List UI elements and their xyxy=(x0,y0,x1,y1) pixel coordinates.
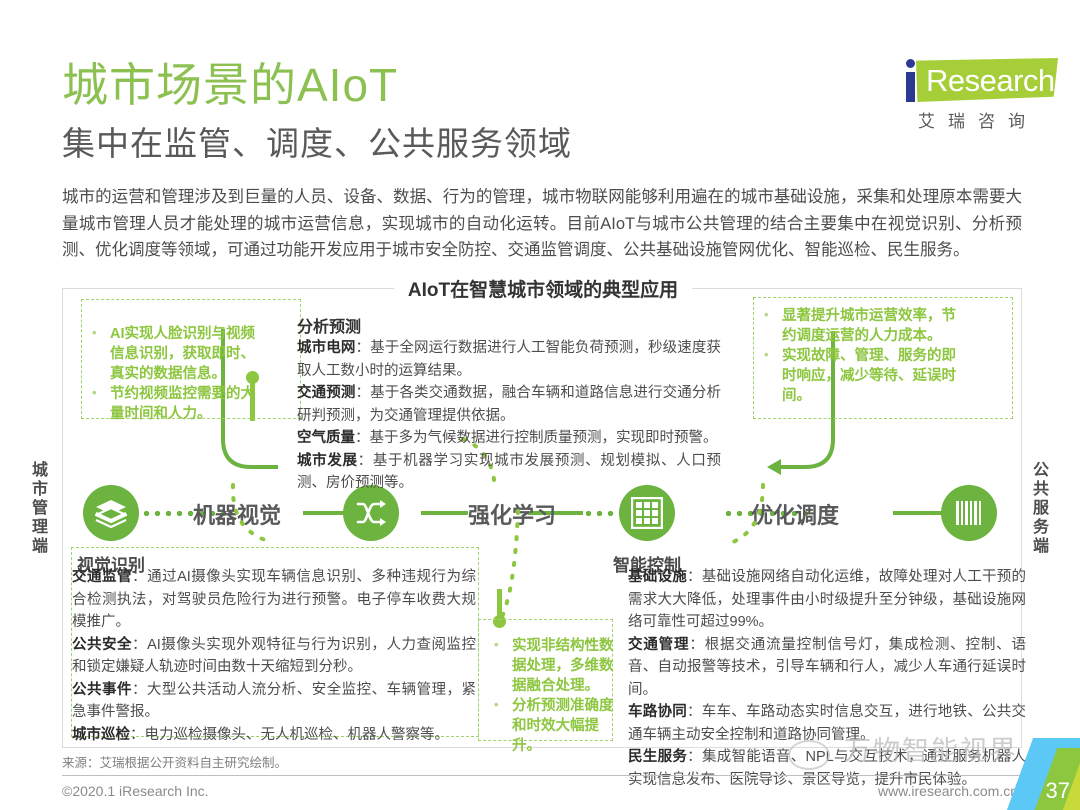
vision-entry-2: 公共安全：AI摄像头实现外观特征与行为识别，人力查阅监控和锁定嫌疑人轨迹时间由数… xyxy=(72,634,476,679)
node-public-service[interactable] xyxy=(941,485,997,541)
analysis-entry-1: 城市电网：基于全网运行数据进行人工智能负荷预测，秒级速度获取人工数小时的运算结果… xyxy=(297,337,721,382)
logo-i-stem xyxy=(906,72,915,102)
callout-right: 显著提升城市运营效率，节约调度运营的人力成本。 实现故障、管理、服务的即时响应，… xyxy=(760,306,960,406)
page-title: 城市场景的AIoT xyxy=(62,57,398,113)
axis-word-machine-vision: 机器视觉 xyxy=(193,498,281,530)
control-term-3: 车路协同 xyxy=(628,704,687,720)
callout-left-item-1: AI实现人脸识别与视频信息识别，获取即时、真实的数据信息。 xyxy=(88,324,268,384)
axis-segment-solid-4 xyxy=(893,511,943,515)
axis-segment-solid-2 xyxy=(421,511,468,515)
connector-arrowhead xyxy=(767,459,781,475)
footer-divider xyxy=(62,775,1020,776)
analysis-text-4: 基于机器学习实现城市发展预测、规划模拟、人口预测、房价预测等。 xyxy=(297,453,721,492)
callout-center-item-1: 实现非结构性数据处理，多维数据融合处理。 xyxy=(490,636,614,696)
source-note: 来源：艾瑞根据公开资料自主研究绘制。 xyxy=(62,752,287,771)
logo-i-dot xyxy=(906,59,915,68)
control-term-1: 基础设施 xyxy=(628,569,687,585)
watermark-face-icon xyxy=(788,740,830,770)
analysis-term-1: 城市电网 xyxy=(297,340,356,356)
vision-text-1: 通过AI摄像头实现车辆信息识别、多种违规行为综合检测执法，对驾驶员危险行为进行预… xyxy=(72,569,476,630)
analysis-term-2: 交通预测 xyxy=(297,385,356,401)
callout-center-item-2: 分析预测准确度和时效大幅提升。 xyxy=(490,696,614,756)
vision-text-2: AI摄像头实现外观特征与行为识别，人力查阅监控和锁定嫌疑人轨迹时间由数十天缩短到… xyxy=(72,637,476,676)
callout-right-item-1: 显著提升城市运营效率，节约调度运营的人力成本。 xyxy=(760,306,960,346)
analysis-text-3: 基于多为气候数据进行控制质量预测，实现即时预警。 xyxy=(370,430,718,446)
layers-icon xyxy=(94,498,128,528)
vision-term-1: 交通监管 xyxy=(72,569,132,585)
analysis-entry-2: 交通预测：基于各类交通数据，融合车辆和道路信息进行交通分析研判预测，为交通管理提… xyxy=(297,382,721,427)
analysis-term-3: 空气质量 xyxy=(297,430,355,446)
control-text-1: 基础设施网络自动化运维，故障处理对人工干预的需求大大降低，处理事件由小时级提升至… xyxy=(628,569,1026,630)
analysis-entry-4: 城市发展：基于机器学习实现城市发展预测、规划模拟、人口预测、房价预测等。 xyxy=(297,450,721,495)
control-entry-1: 基础设施：基础设施网络自动化运维，故障处理对人工干预的需求大大降低，处理事件由小… xyxy=(628,566,1026,634)
iresearch-logo: Research 艾瑞咨询 xyxy=(868,55,1058,135)
analysis-text-2: 基于各类交通数据，融合车辆和道路信息进行交通分析研判预测，为交通管理提供依据。 xyxy=(297,385,721,424)
intro-paragraph: 城市的运营和管理涉及到巨量的人员、设备、数据、行为的管理，城市物联网能够利用遍在… xyxy=(62,184,1022,264)
node-visual-recognition[interactable] xyxy=(83,485,139,541)
vision-entry-4: 城市巡检：电力巡检摄像头、无人机巡检、机器人警察等。 xyxy=(72,724,476,747)
control-entry-2: 交通管理：根据交通流量控制信号灯，集成检测、控制、语音、自动报警等技术，引导车辆… xyxy=(628,634,1026,702)
vision-text-3: 大型公共活动人流分析、安全监控、车辆管理，紧急事件警报。 xyxy=(72,682,476,721)
control-text-3: 车车、车路动态实时信息交互，进行地铁、公共交通车辆主动安全控制和道路协同管理。 xyxy=(628,704,1026,743)
copyright-text: ©2020.1 iResearch Inc. xyxy=(62,783,209,799)
callout-left-item-2: 节约视频监控需要的大量时间和人力。 xyxy=(88,384,268,424)
logo-chinese-name: 艾瑞咨询 xyxy=(918,107,1038,132)
page-header: 城市场景的AIoT 集中在监管、调度、公共服务领域 Research 艾瑞咨询 xyxy=(0,0,1080,180)
grid-icon xyxy=(631,497,663,529)
vision-entry-3: 公共事件：大型公共活动人流分析、安全监控、车辆管理，紧急事件警报。 xyxy=(72,679,476,724)
logo-wordmark: Research xyxy=(926,63,1055,99)
axis-word-optimized-scheduling: 优化调度 xyxy=(751,498,839,530)
shuffle-arrow-top xyxy=(380,500,386,508)
callout-center: 实现非结构性数据处理，多维数据融合处理。 分析预测准确度和时效大幅提升。 xyxy=(490,636,614,756)
vision-text-4: 电力巡检摄像头、无人机巡检、机器人警察等。 xyxy=(145,727,450,743)
control-entry-3: 车路协同：车车、车路动态实时信息交互，进行地铁、公共交通车辆主动安全控制和道路协… xyxy=(628,701,1026,746)
analysis-entry-3: 空气质量：基于多为气候数据进行控制质量预测，实现即时预警。 xyxy=(297,427,721,450)
control-term-4: 民生服务 xyxy=(628,749,687,765)
axis-word-reinforcement-learning: 强化学习 xyxy=(468,498,556,530)
axis-end-label: 公共服务端 xyxy=(1031,461,1051,556)
barcode-icon xyxy=(954,499,984,527)
page-subtitle: 集中在监管、调度、公共服务领域 xyxy=(62,123,572,165)
vision-term-2: 公共安全 xyxy=(72,637,132,653)
analysis-term-4: 城市发展 xyxy=(297,453,358,469)
page-number: 37 xyxy=(1046,778,1070,804)
vision-term-4: 城市巡检 xyxy=(72,727,130,743)
page-corner-decoration: 37 xyxy=(1002,738,1080,810)
vision-term-3: 公共事件 xyxy=(72,682,132,698)
vision-entry-1: 交通监管：通过AI摄像头实现车辆信息识别、多种违规行为综合检测执法，对驾驶员危险… xyxy=(72,566,476,634)
shuffle-arrow-bottom xyxy=(380,518,386,526)
axis-start-label: 城市管理端 xyxy=(30,461,50,556)
callout-left: AI实现人脸识别与视频信息识别，获取即时、真实的数据信息。 节约视频监控需要的大… xyxy=(88,324,268,424)
callout-right-item-2: 实现故障、管理、服务的即时响应，减少等待、延误时间。 xyxy=(760,346,960,406)
shuffle-icon xyxy=(355,499,387,527)
control-term-2: 交通管理 xyxy=(628,637,689,653)
block-heading-analysis: 分析预测 xyxy=(297,313,361,337)
block-body-vision: 交通监管：通过AI摄像头实现车辆信息识别、多种违规行为综合检测执法，对驾驶员危险… xyxy=(72,566,476,746)
block-body-analysis: 城市电网：基于全网运行数据进行人工智能负荷预测，秒级速度获取人工数小时的运算结果… xyxy=(297,337,721,495)
analysis-text-1: 基于全网运行数据进行人工智能负荷预测，秒级速度获取人工数小时的运算结果。 xyxy=(297,340,721,379)
figure-title-text: AIoT在智慧城市领域的典型应用 xyxy=(394,280,692,301)
website-text: www.iresearch.com.cn xyxy=(878,783,1018,799)
